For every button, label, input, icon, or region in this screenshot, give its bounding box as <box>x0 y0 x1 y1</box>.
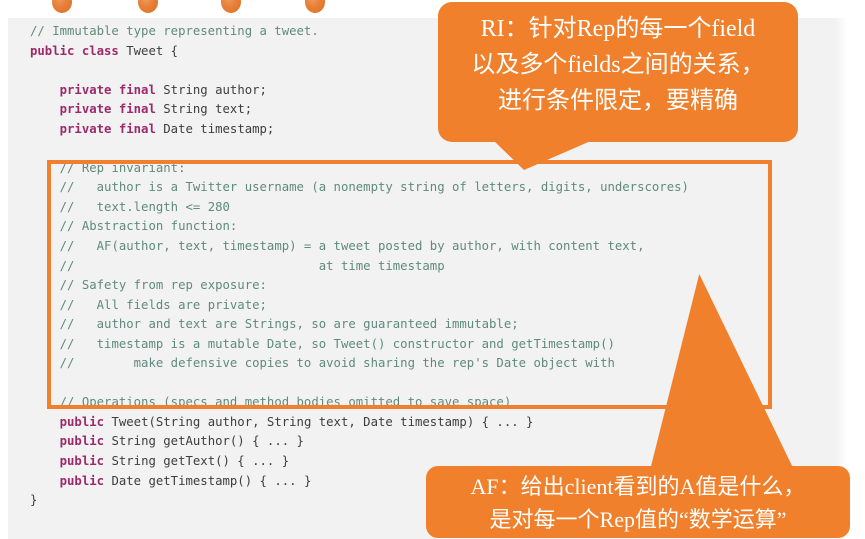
decor-dot-icon <box>138 0 158 13</box>
decor-dot-icon <box>221 0 241 13</box>
decor-dot-icon <box>305 0 325 13</box>
ri-callout-line-3: 进行条件限定，要精确 <box>452 83 784 119</box>
decor-dot-icon <box>52 0 72 13</box>
af-callout-line-1: AF：给出client看到的A值是什么， <box>436 470 840 503</box>
slide-canvas: // Immutable type representing a tweet. … <box>0 0 865 539</box>
ri-callout-line-2: 以及多个fields之间的关系， <box>452 47 784 83</box>
ri-callout-line-1: RI：针对Rep的每一个field <box>452 11 784 47</box>
ri-callout-bubble: RI：针对Rep的每一个field 以及多个fields之间的关系， 进行条件限… <box>438 2 798 142</box>
af-callout-bubble: AF：给出client看到的A值是什么， 是对每一个Rep值的“数学运算” <box>426 466 850 538</box>
rep-invariant-highlight-box <box>47 160 772 409</box>
af-callout-line-2: 是对每一个Rep值的“数学运算” <box>436 503 840 536</box>
